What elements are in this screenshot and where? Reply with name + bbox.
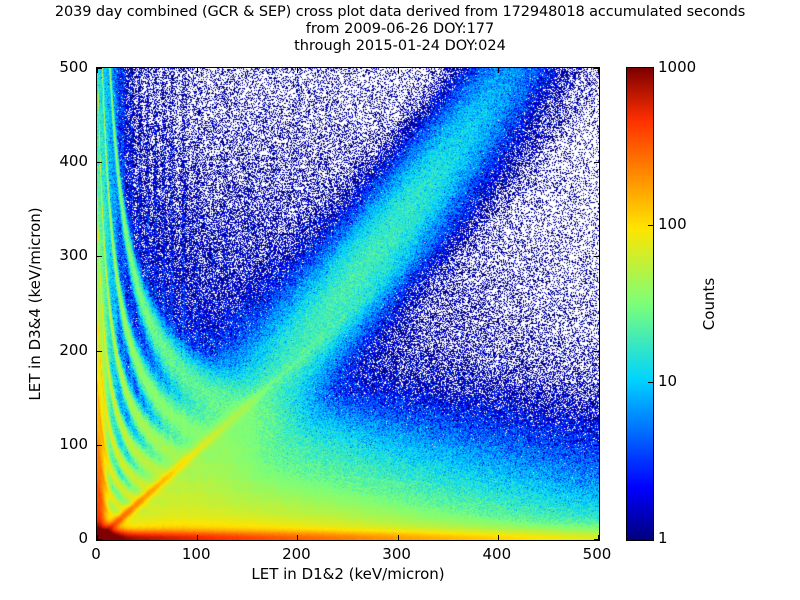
y-tick-right-0 [594,539,599,540]
x-tick-label-200: 200 [282,545,311,563]
y-tick-right-300 [594,256,599,257]
x-tick-300 [398,535,399,540]
y-tick-right-500 [594,68,599,69]
chart-title: 2039 day combined (GCR & SEP) cross plot… [0,4,800,55]
y-tick-label-500: 500 [59,58,88,76]
y-tick-right-200 [594,351,599,352]
y-tick-label-400: 400 [59,152,88,170]
title-line-1: 2039 day combined (GCR & SEP) cross plot… [0,4,800,21]
colorbar-label: Counts [700,67,718,541]
y-tick-300 [97,256,102,257]
colorbar-tick-label-1000: 1000 [658,58,696,76]
heatmap-canvas [97,68,599,540]
y-tick-right-400 [594,162,599,163]
x-tick-top-100 [197,68,198,73]
figure: 2039 day combined (GCR & SEP) cross plot… [0,0,800,600]
colorbar-tick-label-100: 100 [658,215,687,233]
colorbar-tick-100 [648,225,653,226]
x-tick-label-400: 400 [482,545,511,563]
y-tick-label-200: 200 [59,341,88,359]
y-tick-right-100 [594,445,599,446]
colorbar [626,67,654,541]
y-tick-label-300: 300 [59,246,88,264]
x-tick-label-0: 0 [91,545,101,563]
y-tick-label-0: 0 [78,529,88,547]
x-tick-400 [498,535,499,540]
y-tick-400 [97,162,102,163]
title-line-3: through 2015-01-24 DOY:024 [0,38,800,55]
x-tick-top-400 [498,68,499,73]
y-tick-0 [97,539,102,540]
x-tick-top-200 [297,68,298,73]
x-axis-label: LET in D1&2 (keV/micron) [96,565,600,583]
x-tick-top-300 [398,68,399,73]
colorbar-tick-label-10: 10 [658,372,677,390]
y-axis-label: LET in D3&4 (keV/micron) [26,67,44,541]
x-tick-label-500: 500 [583,545,612,563]
plot-area [96,67,600,541]
x-tick-100 [197,535,198,540]
y-tick-200 [97,351,102,352]
y-tick-label-100: 100 [59,435,88,453]
colorbar-tick-10 [648,382,653,383]
y-tick-500 [97,68,102,69]
colorbar-tick-label-1: 1 [658,529,668,547]
colorbar-gradient [627,68,653,540]
x-tick-label-300: 300 [382,545,411,563]
title-line-2: from 2009-06-26 DOY:177 [0,21,800,38]
x-tick-label-100: 100 [182,545,211,563]
y-tick-100 [97,445,102,446]
x-tick-200 [297,535,298,540]
